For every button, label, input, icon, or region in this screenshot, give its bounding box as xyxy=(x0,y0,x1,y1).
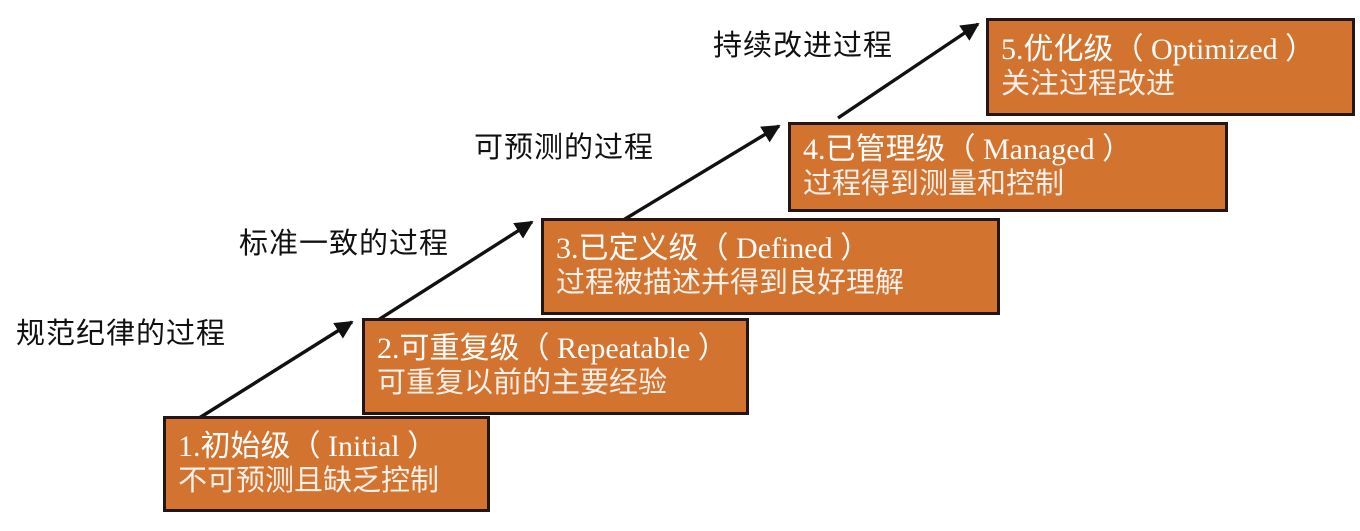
step-title-level-5: 5.优化级（ Optimized ） xyxy=(1001,33,1342,68)
step-box-level-2[interactable]: 2.可重复级（ Repeatable ） 可重复以前的主要经验 xyxy=(362,318,749,415)
step-subtitle-level-1: 不可预测且缺乏控制 xyxy=(178,465,477,499)
cmm-staircase-diagram: 规范纪律的过程 标准一致的过程 可预测的过程 持续改进过程 1.初始级（ Ini… xyxy=(0,0,1360,531)
step-subtitle-level-5: 关注过程改进 xyxy=(1001,68,1342,102)
transition-label-3: 可预测的过程 xyxy=(474,124,654,166)
step-box-level-3[interactable]: 3.已定义级（ Defined ） 过程被描述并得到良好理解 xyxy=(541,218,1000,315)
step-subtitle-level-3: 过程被描述并得到良好理解 xyxy=(556,267,987,301)
transition-label-2: 标准一致的过程 xyxy=(239,220,449,262)
step-title-level-3: 3.已定义级（ Defined ） xyxy=(556,232,987,267)
step-box-level-4[interactable]: 4.已管理级（ Managed ） 过程得到测量和控制 xyxy=(788,122,1228,212)
step-box-level-5[interactable]: 5.优化级（ Optimized ） 关注过程改进 xyxy=(986,18,1355,116)
step-box-level-1[interactable]: 1.初始级（ Initial ） 不可预测且缺乏控制 xyxy=(163,416,490,512)
step-title-level-2: 2.可重复级（ Repeatable ） xyxy=(377,332,736,367)
transition-label-4: 持续改进过程 xyxy=(713,22,893,64)
step-title-level-4: 4.已管理级（ Managed ） xyxy=(803,133,1215,168)
transition-label-1: 规范纪律的过程 xyxy=(16,310,226,352)
step-subtitle-level-4: 过程得到测量和控制 xyxy=(803,168,1215,202)
step-subtitle-level-2: 可重复以前的主要经验 xyxy=(377,367,736,401)
step-title-level-1: 1.初始级（ Initial ） xyxy=(178,430,477,465)
